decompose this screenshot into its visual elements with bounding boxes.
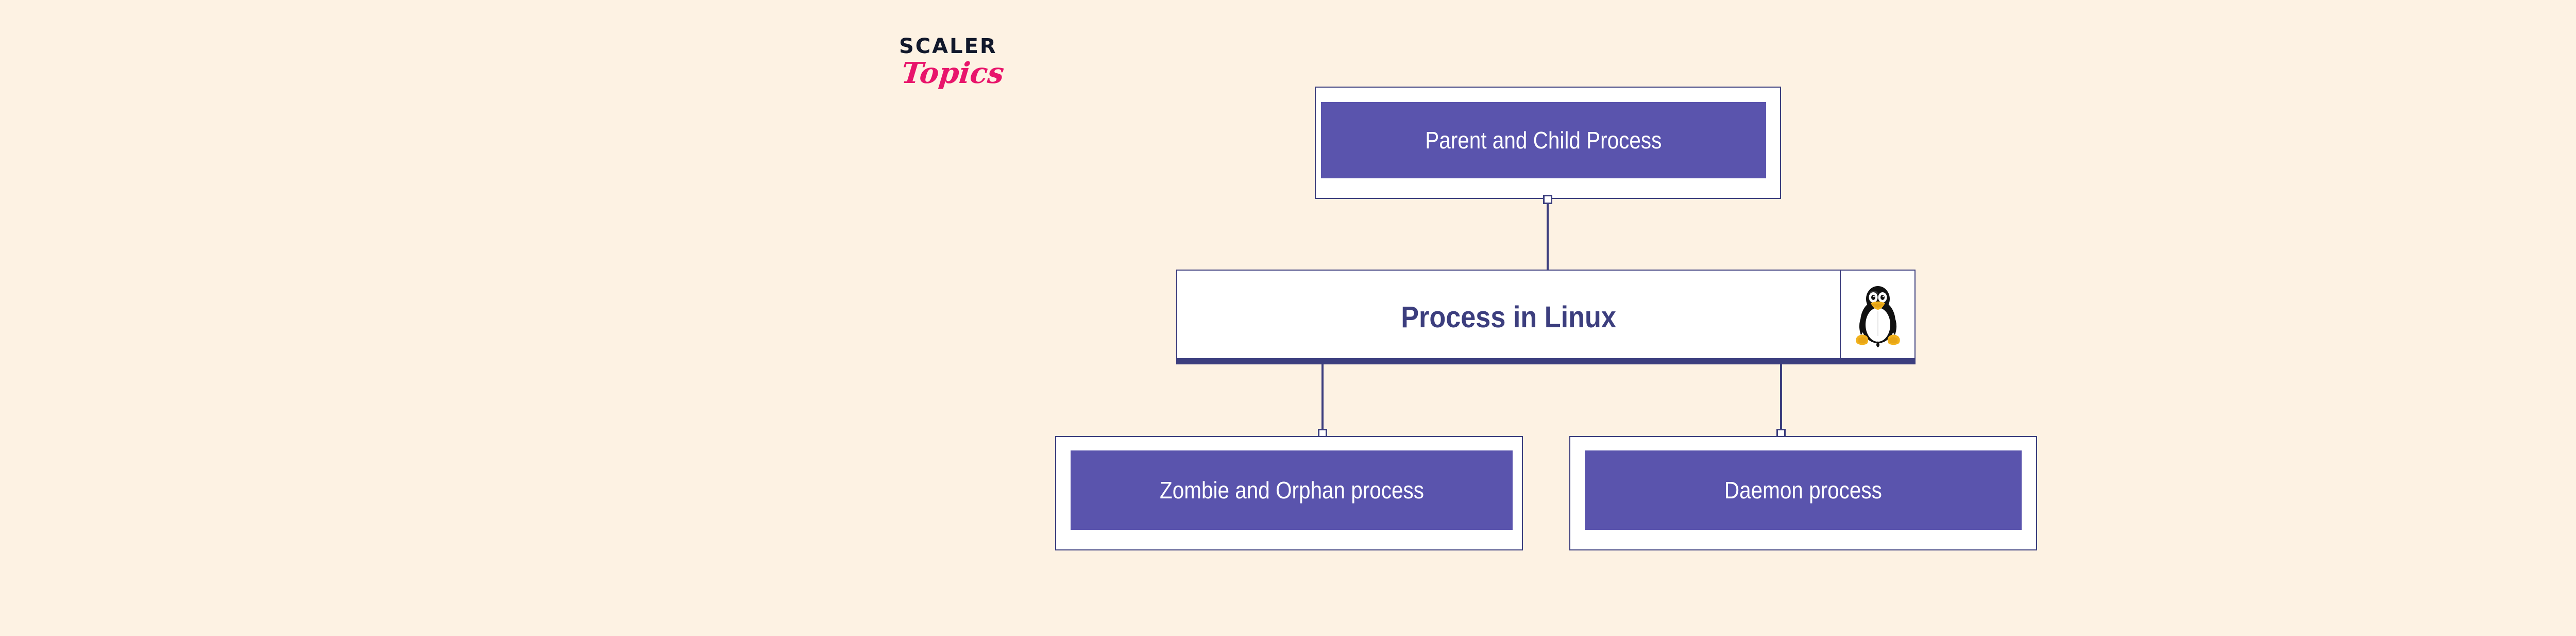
node-root-title-cell: Process in Linux: [1177, 271, 1840, 363]
node-daemon-label: Daemon process: [1724, 476, 1882, 504]
node-process-in-linux[interactable]: Process in Linux: [1176, 270, 1916, 363]
node-root-icon-cell: [1840, 271, 1914, 363]
diagram-canvas: SCALER Topics Parent and Child Process P…: [0, 0, 2576, 636]
node-parent-and-child-process[interactable]: Parent and Child Process: [1315, 87, 1781, 199]
scaler-topics-logo: SCALER Topics: [899, 36, 1033, 108]
node-daemon-process[interactable]: Daemon process: [1569, 436, 2037, 550]
connector-root-to-parent-endpoint: [1543, 195, 1552, 204]
node-zombie-label: Zombie and Orphan process: [1159, 476, 1423, 504]
node-parent-plate: Parent and Child Process: [1321, 102, 1766, 178]
logo-wordmark-scaler: SCALER: [899, 36, 1033, 57]
node-root-bottom-bar: [1176, 358, 1916, 364]
tux-penguin-icon: [1851, 284, 1905, 349]
connector-root-to-zombie-line: [1321, 364, 1324, 438]
node-zombie-plate: Zombie and Orphan process: [1071, 450, 1513, 530]
node-daemon-plate: Daemon process: [1585, 450, 2022, 530]
connector-root-to-parent-line: [1547, 199, 1549, 271]
node-zombie-and-orphan-process[interactable]: Zombie and Orphan process: [1055, 436, 1523, 550]
node-root-label: Process in Linux: [1401, 300, 1616, 334]
connector-root-to-daemon-line: [1780, 364, 1782, 438]
node-parent-label: Parent and Child Process: [1425, 126, 1662, 154]
logo-wordmark-topics: Topics: [900, 59, 1033, 88]
